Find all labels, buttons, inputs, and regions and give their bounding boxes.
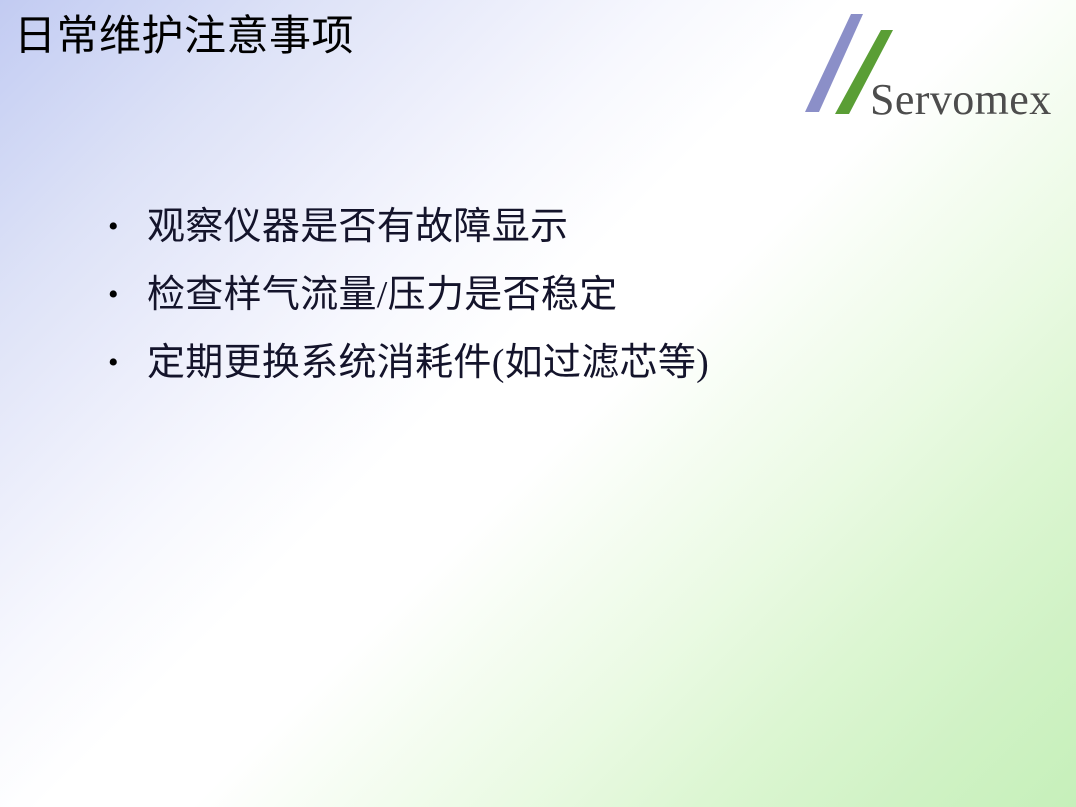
- bullet-marker-icon: •: [104, 332, 147, 394]
- bullet-text: 定期更换系统消耗件(如过滤芯等): [147, 332, 1004, 394]
- list-item: • 观察仪器是否有故障显示: [104, 196, 1004, 264]
- list-item: • 定期更换系统消耗件(如过滤芯等): [104, 332, 1004, 400]
- servomex-logo: Servomex: [793, 12, 1068, 130]
- bullet-marker-icon: •: [104, 196, 147, 258]
- bullet-marker-icon: •: [104, 264, 147, 326]
- logo-wordmark: Servomex: [870, 74, 1052, 126]
- slide-title: 日常维护注意事项: [14, 10, 354, 64]
- list-item: • 检查样气流量/压力是否稳定: [104, 264, 1004, 332]
- slide: 日常维护注意事项 Servomex • 观察仪器是否有故障显示 • 检查样气流量…: [0, 0, 1076, 807]
- bullet-text: 观察仪器是否有故障显示: [147, 196, 1004, 258]
- bullet-list: • 观察仪器是否有故障显示 • 检查样气流量/压力是否稳定 • 定期更换系统消耗…: [104, 196, 1004, 400]
- bullet-text: 检查样气流量/压力是否稳定: [147, 264, 1004, 326]
